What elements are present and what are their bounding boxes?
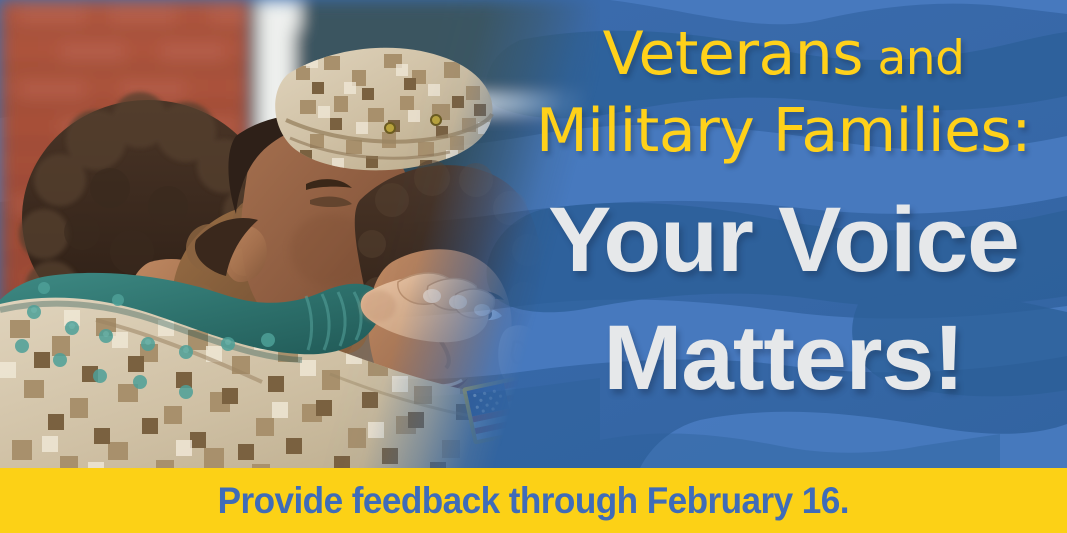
family-photo bbox=[0, 0, 600, 478]
cta-bar: Provide feedback through February 16. bbox=[0, 468, 1067, 533]
cta-text: Provide feedback through February 16. bbox=[218, 482, 849, 519]
veterans-banner: Veterans and Military Families: Your Voi… bbox=[0, 0, 1067, 533]
